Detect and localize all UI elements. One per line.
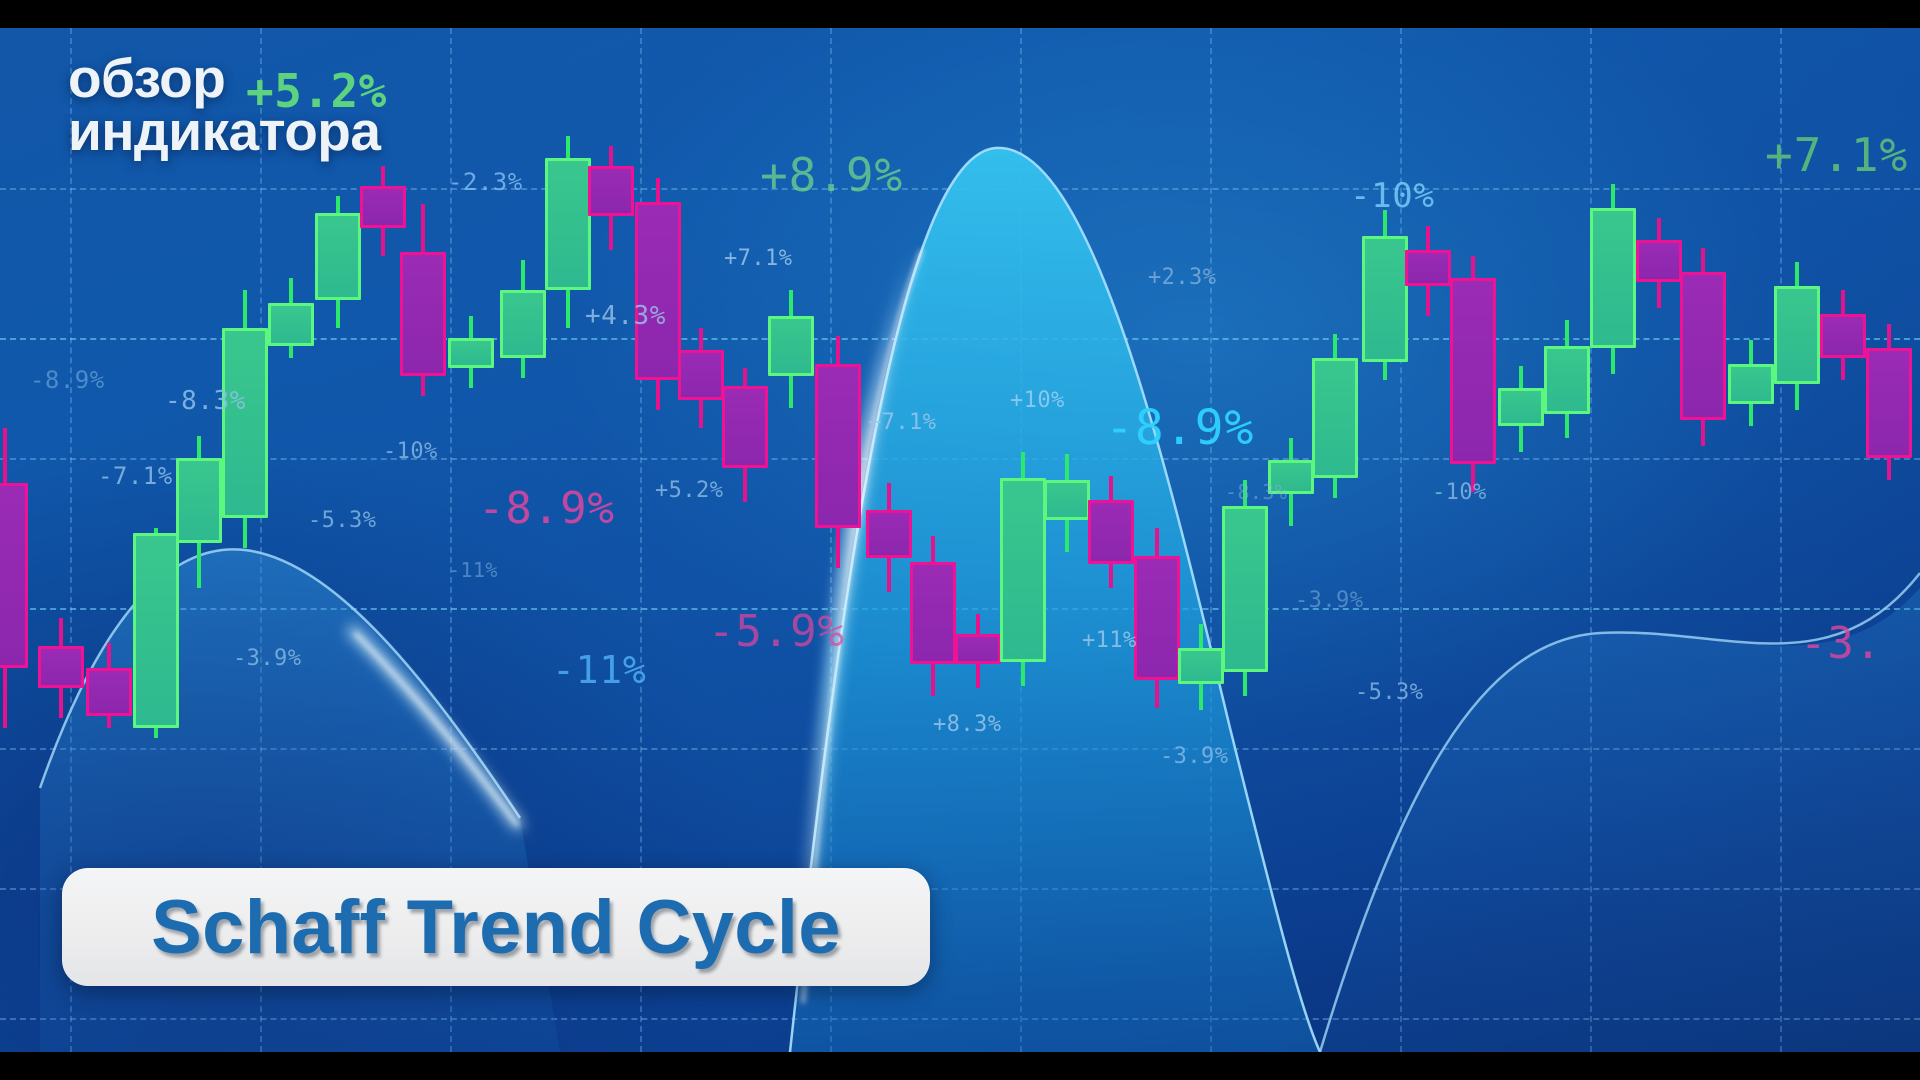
candlestick <box>1774 262 1820 410</box>
percent-label: -8.9% <box>1105 400 1254 456</box>
percent-label: -3. <box>1800 618 1882 669</box>
candlestick <box>1000 452 1046 686</box>
candle-body <box>1222 506 1268 672</box>
candle-body <box>448 338 494 368</box>
percent-label: -5.3% <box>1355 680 1423 705</box>
percent-label: -8.3% <box>1225 480 1287 504</box>
percent-label: +5.2% <box>655 478 723 503</box>
candle-body <box>1178 648 1224 684</box>
candlestick <box>1405 226 1451 316</box>
candlestick <box>315 196 361 328</box>
candle-body <box>1728 364 1774 404</box>
percent-label: +4.3% <box>585 301 666 331</box>
candle-body <box>955 634 1001 664</box>
candle-body <box>133 533 179 728</box>
percent-label: +7.1% <box>868 410 936 435</box>
candle-body <box>1636 240 1682 282</box>
percent-label: +7.1% <box>1765 128 1908 182</box>
candle-body <box>635 202 681 380</box>
candle-body <box>222 328 268 518</box>
candlestick <box>1362 210 1408 380</box>
candle-body <box>588 166 634 216</box>
percent-label: +8.3% <box>933 712 1001 737</box>
candlestick <box>910 536 956 696</box>
candlestick <box>768 290 814 408</box>
candle-body <box>1405 250 1451 286</box>
candlestick <box>815 336 861 568</box>
candle-body <box>1680 272 1726 420</box>
candle-body <box>1820 314 1866 358</box>
candlestick <box>1088 476 1134 588</box>
percent-label: -8.3% <box>165 386 246 416</box>
candlestick <box>1728 340 1774 426</box>
percent-label: +8.9% <box>760 148 903 202</box>
percent-label: -3.9% <box>1295 588 1363 613</box>
percent-label: +2.3% <box>1148 265 1216 290</box>
candlestick <box>1312 334 1358 498</box>
candle-body <box>1498 388 1544 426</box>
candle-body <box>500 290 546 358</box>
candlestick <box>1450 256 1496 492</box>
candlestick <box>955 614 1001 688</box>
candlestick <box>1866 324 1912 480</box>
candle-body <box>1866 348 1912 458</box>
candle-body <box>1450 278 1496 464</box>
candle-body <box>1590 208 1636 348</box>
candlestick <box>1134 528 1180 708</box>
candle-body <box>545 158 591 290</box>
candlestick <box>1178 624 1224 710</box>
candle-body <box>176 458 222 543</box>
candlestick <box>678 328 724 428</box>
candle-body <box>1544 346 1590 414</box>
percent-label: -3.9% <box>1160 744 1228 769</box>
candle-body <box>1134 556 1180 680</box>
chart-canvas: -2.3%+8.9%+7.1%-10%+7.1%+2.3%+4.3%-8.9%-… <box>0 28 1920 1052</box>
candlestick <box>588 146 634 250</box>
indicator-name-text: Schaff Trend Cycle <box>151 884 841 971</box>
candle-body <box>910 562 956 664</box>
percent-label: -3.9% <box>233 646 301 671</box>
candle-body <box>815 364 861 528</box>
candle-body <box>1000 478 1046 662</box>
candle-body <box>678 350 724 400</box>
candle-body <box>1312 358 1358 478</box>
candlestick <box>133 528 179 738</box>
candlestick <box>1044 454 1090 552</box>
candlestick <box>268 278 314 358</box>
candlestick <box>222 290 268 548</box>
percent-label: +7.1% <box>724 246 792 271</box>
candlestick <box>500 260 546 378</box>
percent-label: -10% <box>1432 480 1487 505</box>
candlestick <box>866 483 912 592</box>
candlestick <box>38 618 84 718</box>
candlestick <box>400 204 446 396</box>
candlestick <box>1636 218 1682 308</box>
candle-body <box>866 510 912 558</box>
percent-label: +10% <box>1010 388 1065 413</box>
candle-body <box>86 668 132 716</box>
candle-body <box>315 213 361 300</box>
candlestick <box>1498 366 1544 452</box>
percent-label: -10% <box>383 439 438 464</box>
percent-label: +11% <box>1082 628 1137 653</box>
candlestick <box>545 136 591 328</box>
indicator-name-banner: Schaff Trend Cycle <box>62 868 930 986</box>
candle-body <box>722 386 768 468</box>
candle-body <box>768 316 814 376</box>
percent-label: -10% <box>1350 176 1435 216</box>
percent-label: -11% <box>552 648 647 692</box>
percent-label: -7.1% <box>98 462 173 490</box>
percent-label: -8.9% <box>478 483 615 534</box>
video-thumbnail: -2.3%+8.9%+7.1%-10%+7.1%+2.3%+4.3%-8.9%-… <box>0 0 1920 1080</box>
candle-body <box>1044 480 1090 520</box>
candlestick <box>86 643 132 728</box>
candle-body <box>1362 236 1408 362</box>
candlestick <box>448 316 494 388</box>
candlestick <box>1544 320 1590 438</box>
candlestick <box>722 368 768 502</box>
candlestick <box>1590 184 1636 374</box>
candlestick <box>1222 480 1268 696</box>
candle-body <box>268 303 314 346</box>
percent-label: -5.9% <box>708 606 845 657</box>
letterbox-top <box>0 0 1920 28</box>
candlestick <box>635 178 681 410</box>
candlestick <box>1820 290 1866 380</box>
candle-body <box>400 252 446 376</box>
letterbox-bottom <box>0 1052 1920 1080</box>
candlestick <box>0 428 28 728</box>
percent-label: -5.3% <box>308 508 376 533</box>
header-accent-percent: +5.2% <box>246 64 387 118</box>
candlestick <box>1680 248 1726 446</box>
percent-label: -2.3% <box>448 168 523 196</box>
percent-label: -11% <box>448 558 498 582</box>
percent-label: -8.9% <box>30 366 105 394</box>
candle-body <box>38 646 84 688</box>
candle-body <box>0 483 28 668</box>
candlestick <box>176 436 222 588</box>
candle-body <box>1088 500 1134 564</box>
candle-body <box>1774 286 1820 384</box>
